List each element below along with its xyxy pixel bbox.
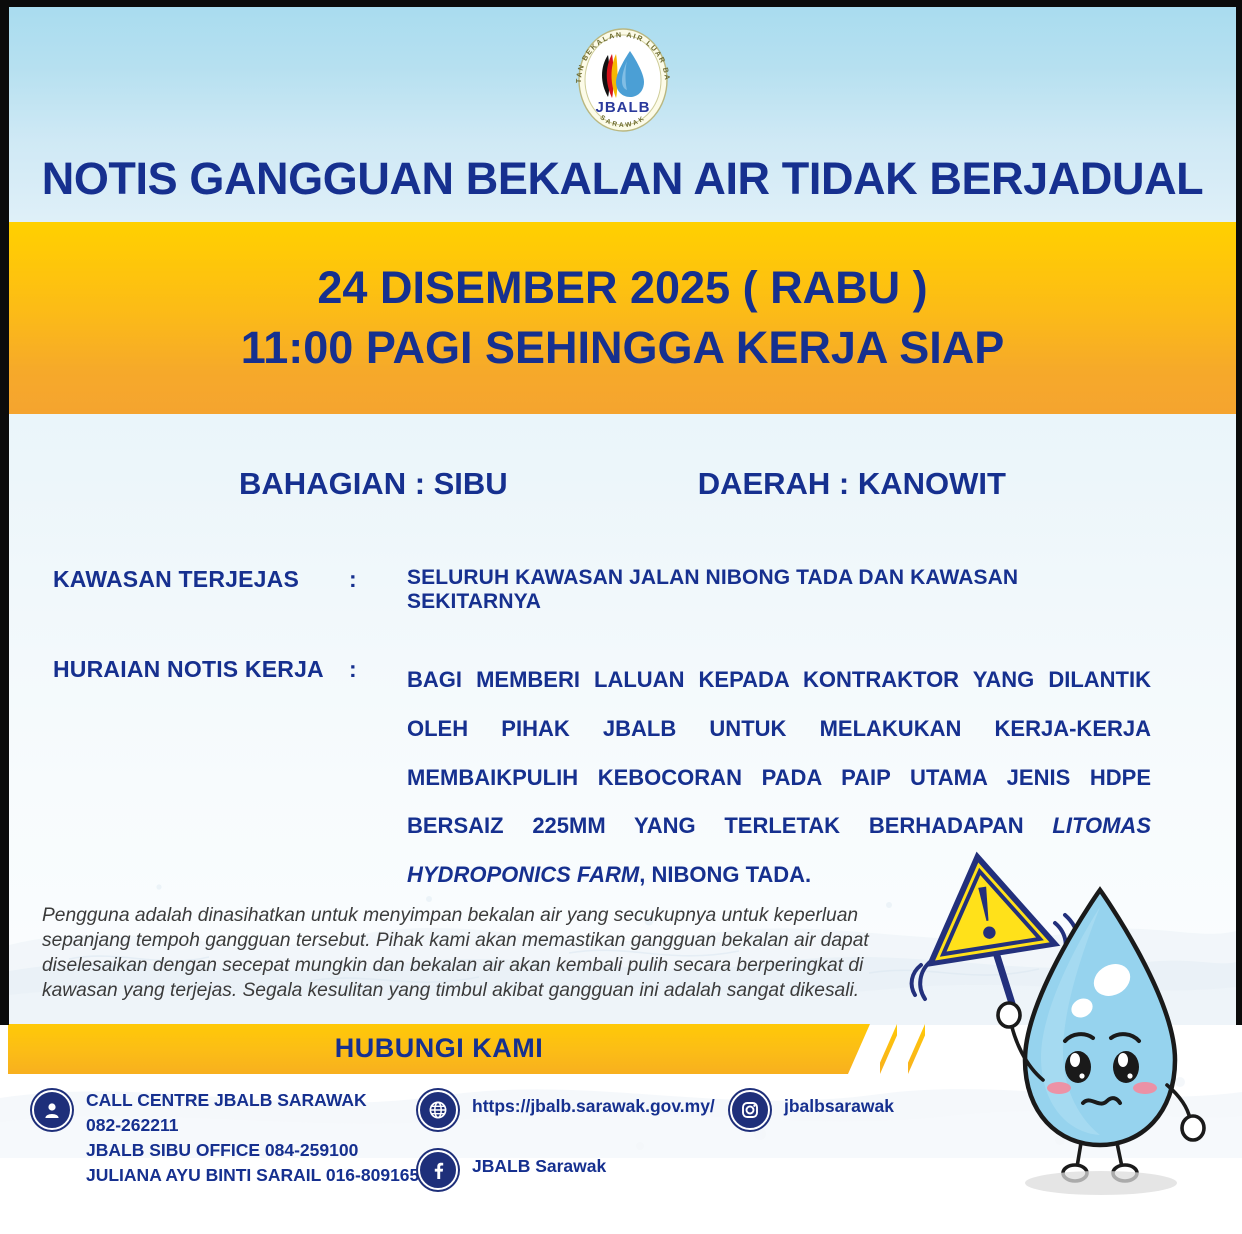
- work-description-label: HURAIAN NOTIS KERJA: [9, 656, 349, 900]
- call-centre-name: CALL CENTRE JBALB SARAWAK: [86, 1090, 367, 1110]
- jbalb-logo-icon: JABATAN BEKALAN AIR LUAR BANDAR SARAWAK …: [564, 21, 682, 139]
- work-description-part2: , NIBONG TADA.: [639, 862, 811, 887]
- poster-title: NOTIS GANGGUAN BEKALAN AIR TIDAK BERJADU…: [9, 153, 1236, 205]
- instagram-contact[interactable]: jbalbsarawak: [730, 1088, 894, 1130]
- call-centre-number: 082-262211: [86, 1115, 178, 1135]
- instagram-icon: [730, 1090, 770, 1130]
- notice-date: 24 DISEMBER 2025 ( RABU ): [317, 258, 927, 318]
- poster-header: JABATAN BEKALAN AIR LUAR BANDAR SARAWAK …: [9, 7, 1236, 222]
- banner-slash-decoration-1: [880, 1024, 897, 1074]
- globe-icon: [418, 1090, 458, 1130]
- call-centre-contact[interactable]: CALL CENTRE JBALB SARAWAK 082-262211 JBA…: [32, 1088, 429, 1187]
- water-droplet-mascot: [905, 845, 1235, 1210]
- website-url[interactable]: https://jbalb.sarawak.gov.my/: [472, 1094, 715, 1119]
- district-label: DAERAH : KANOWIT: [698, 466, 1006, 502]
- facebook-contact[interactable]: JBALB Sarawak: [418, 1148, 606, 1190]
- website-contact[interactable]: https://jbalb.sarawak.gov.my/: [418, 1088, 715, 1130]
- affected-area-label: KAWASAN TERJEJAS: [9, 566, 349, 614]
- work-description-colon: :: [349, 656, 407, 900]
- date-banner: 24 DISEMBER 2025 ( RABU ) 11:00 PAGI SEH…: [9, 222, 1236, 414]
- frame-top-edge: [0, 0, 1242, 7]
- affected-area-value: SELURUH KAWASAN JALAN NIBONG TADA DAN KA…: [407, 566, 1236, 614]
- water-droplet-mascot-icon: [905, 845, 1235, 1210]
- frame-right-edge: [1236, 0, 1242, 1025]
- advisory-text: Pengguna adalah dinasihatkan untuk menyi…: [42, 904, 887, 1004]
- person-icon: [32, 1090, 72, 1130]
- sibu-office-number: JBALB SIBU OFFICE 084-259100: [86, 1140, 358, 1160]
- affected-area-row: KAWASAN TERJEJAS : SELURUH KAWASAN JALAN…: [9, 566, 1236, 614]
- contact-banner: HUBUNGI KAMI: [8, 1024, 870, 1074]
- instagram-handle[interactable]: jbalbsarawak: [784, 1094, 894, 1119]
- notice-time: 11:00 PAGI SEHINGGA KERJA SIAP: [241, 318, 1005, 378]
- contact-banner-title: HUBUNGI KAMI: [8, 1033, 870, 1064]
- notice-poster: JABATAN BEKALAN AIR LUAR BANDAR SARAWAK …: [0, 0, 1242, 1234]
- facebook-page[interactable]: JBALB Sarawak: [472, 1154, 606, 1179]
- affected-area-colon: :: [349, 566, 407, 614]
- officer-contact: JULIANA AYU BINTI SARAIL 016-8091659: [86, 1165, 429, 1185]
- work-description-part1: BAGI MEMBERI LALUAN KEPADA KONTRAKTOR YA…: [407, 667, 1151, 838]
- jbalb-logo: JABATAN BEKALAN AIR LUAR BANDAR SARAWAK …: [564, 21, 682, 139]
- facebook-icon: [418, 1150, 458, 1190]
- call-centre-text: CALL CENTRE JBALB SARAWAK 082-262211 JBA…: [86, 1088, 429, 1187]
- frame-left-edge: [0, 0, 9, 1025]
- region-row: BAHAGIAN : SIBU DAERAH : KANOWIT: [9, 466, 1236, 502]
- division-label: BAHAGIAN : SIBU: [239, 466, 508, 502]
- svg-text:JBALB: JBALB: [595, 99, 650, 116]
